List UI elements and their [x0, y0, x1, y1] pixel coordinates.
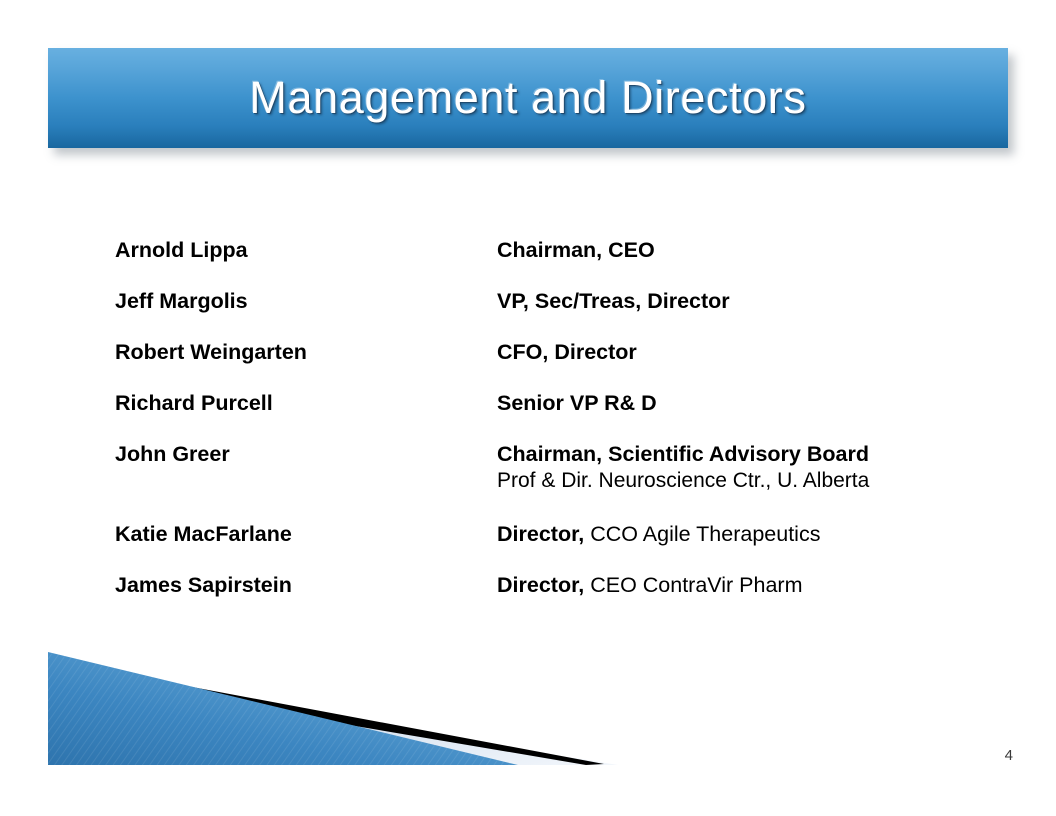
corner-decoration-graphic — [48, 648, 618, 768]
person-role-primary: Chairman, Scientific Advisory Board — [497, 442, 869, 466]
person-name: Robert Weingarten — [115, 340, 307, 365]
roster-row: John Greer Chairman, Scientific Advisory… — [115, 442, 995, 493]
person-role: VP, Sec/Treas, Director — [497, 289, 730, 314]
person-role-primary: Director, — [497, 522, 584, 546]
roster-row: Richard Purcell Senior VP R& D — [115, 391, 995, 442]
person-role-rest: CEO ContraVir Pharm — [584, 573, 802, 597]
person-role: Chairman, Scientific Advisory Board Prof… — [497, 442, 869, 493]
person-name: Richard Purcell — [115, 391, 273, 416]
person-role: Director, CCO Agile Therapeutics — [497, 522, 820, 547]
roster-row: Arnold Lippa Chairman, CEO — [115, 238, 995, 289]
person-name: John Greer — [115, 442, 230, 467]
roster-row: Katie MacFarlane Director, CCO Agile The… — [115, 522, 995, 573]
management-roster: Arnold Lippa Chairman, CEO Jeff Margolis… — [115, 238, 995, 624]
person-name: Arnold Lippa — [115, 238, 248, 263]
person-role: Chairman, CEO — [497, 238, 655, 263]
person-role-primary: Chairman, CEO — [497, 238, 655, 262]
roster-row: James Sapirstein Director, CEO ContraVir… — [115, 573, 995, 624]
page-number: 4 — [1005, 747, 1013, 764]
roster-row: Robert Weingarten CFO, Director — [115, 340, 995, 391]
person-role: CFO, Director — [497, 340, 637, 365]
person-name: Katie MacFarlane — [115, 522, 292, 547]
person-role-primary: Senior VP R& D — [497, 391, 657, 415]
person-name: James Sapirstein — [115, 573, 292, 598]
slide: Management and Directors Arnold Lippa Ch… — [0, 0, 1056, 816]
person-role: Senior VP R& D — [497, 391, 657, 416]
person-role-primary: Director, — [497, 573, 584, 597]
person-role: Director, CEO ContraVir Pharm — [497, 573, 803, 598]
roster-row: Jeff Margolis VP, Sec/Treas, Director — [115, 289, 995, 340]
person-role-rest: CCO Agile Therapeutics — [584, 522, 820, 546]
person-role-subtitle: Prof & Dir. Neuroscience Ctr., U. Albert… — [497, 469, 869, 493]
page-title: Management and Directors — [249, 72, 806, 124]
person-name: Jeff Margolis — [115, 289, 248, 314]
person-role-primary: CFO, Director — [497, 340, 637, 364]
person-role-primary: VP, Sec/Treas, Director — [497, 289, 730, 313]
title-banner: Management and Directors — [48, 48, 1008, 148]
